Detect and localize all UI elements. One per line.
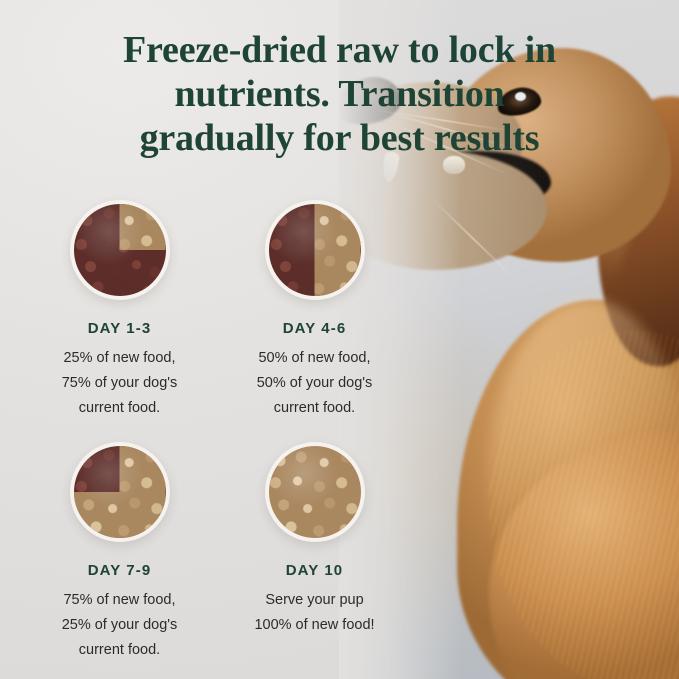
step-description-line: 50% of new food, — [217, 346, 412, 371]
step-description-line: 50% of your dog's — [217, 371, 412, 396]
step-card-day-7-9: DAY 7-9 75% of new food, 25% of your dog… — [22, 442, 217, 663]
food-bowl-day-1-3 — [70, 200, 170, 300]
step-day-label: DAY 1-3 — [22, 320, 217, 337]
step-card-day-4-6: DAY 4-6 50% of new food, 50% of your dog… — [217, 200, 412, 421]
step-day-label: DAY 10 — [217, 562, 412, 579]
bowl-contents — [74, 446, 166, 538]
step-description: 25% of new food, 75% of your dog's curre… — [22, 346, 217, 421]
transition-steps-grid: DAY 1-3 25% of new food, 75% of your dog… — [22, 200, 412, 663]
step-description: Serve your pup 100% of new food! — [217, 588, 412, 638]
bowl-contents — [269, 446, 361, 538]
step-day-label: DAY 4-6 — [217, 320, 412, 337]
bowl-contents — [74, 204, 166, 296]
headline-line-2: nutrients. Transition — [0, 72, 679, 116]
step-description: 75% of new food, 25% of your dog's curre… — [22, 588, 217, 663]
step-card-day-10: DAY 10 Serve your pup 100% of new food! — [217, 442, 412, 663]
transition-guide-graphic: Freeze-dried raw to lock in nutrients. T… — [0, 0, 679, 679]
step-description-line: 25% of new food, — [22, 346, 217, 371]
steps-row-1: DAY 1-3 25% of new food, 75% of your dog… — [22, 200, 412, 421]
step-description-line: current food. — [217, 396, 412, 421]
page-title: Freeze-dried raw to lock in nutrients. T… — [0, 28, 679, 160]
step-description-line: current food. — [22, 396, 217, 421]
step-description-line: 100% of new food! — [217, 613, 412, 638]
food-bowl-day-7-9 — [70, 442, 170, 542]
step-description-line: Serve your pup — [217, 588, 412, 613]
step-card-day-1-3: DAY 1-3 25% of new food, 75% of your dog… — [22, 200, 217, 421]
food-bowl-day-10 — [265, 442, 365, 542]
steps-row-2: DAY 7-9 75% of new food, 25% of your dog… — [22, 421, 412, 663]
step-description-line: 75% of new food, — [22, 588, 217, 613]
bowl-contents — [269, 204, 361, 296]
headline-line-3: gradually for best results — [0, 116, 679, 160]
food-bowl-day-4-6 — [265, 200, 365, 300]
step-description: 50% of new food, 50% of your dog's curre… — [217, 346, 412, 421]
step-day-label: DAY 7-9 — [22, 562, 217, 579]
step-description-line: current food. — [22, 638, 217, 663]
headline-line-1: Freeze-dried raw to lock in — [0, 28, 679, 72]
step-description-line: 25% of your dog's — [22, 613, 217, 638]
step-description-line: 75% of your dog's — [22, 371, 217, 396]
new-food-kibble — [269, 446, 361, 538]
